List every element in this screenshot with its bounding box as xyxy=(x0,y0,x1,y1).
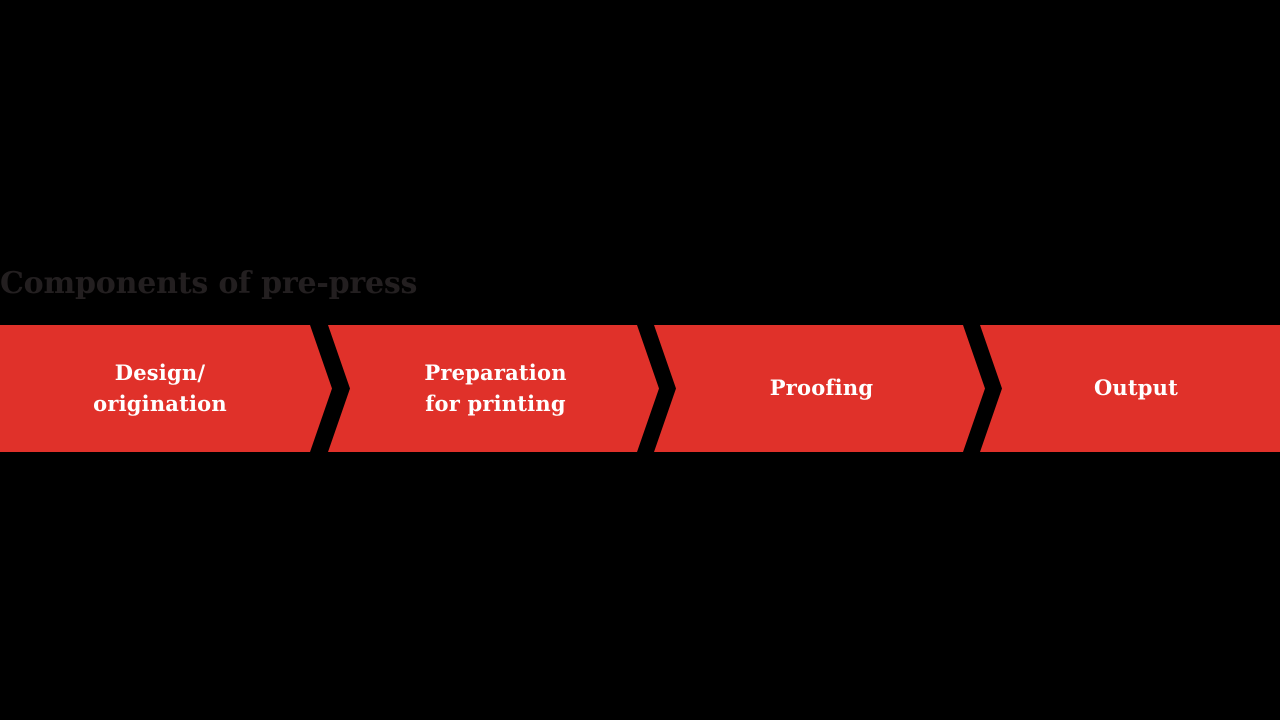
process-step-label: Proofing xyxy=(770,373,873,404)
process-step-proofing[interactable]: Proofing xyxy=(654,325,985,452)
page-title: Components of pre-press xyxy=(0,264,640,304)
process-flow-diagram: Design/ origination Preparation for prin… xyxy=(0,325,1280,452)
process-step-label: Preparation for printing xyxy=(424,358,566,420)
process-step-label: Design/ origination xyxy=(93,358,227,420)
slide-canvas: Components of pre-press Design/ originat… xyxy=(0,0,1280,720)
process-step-output[interactable]: Output xyxy=(980,325,1280,452)
process-step-design-origination[interactable]: Design/ origination xyxy=(0,325,332,452)
process-step-preparation-for-printing[interactable]: Preparation for printing xyxy=(328,325,659,452)
process-step-label: Output xyxy=(1094,373,1178,404)
